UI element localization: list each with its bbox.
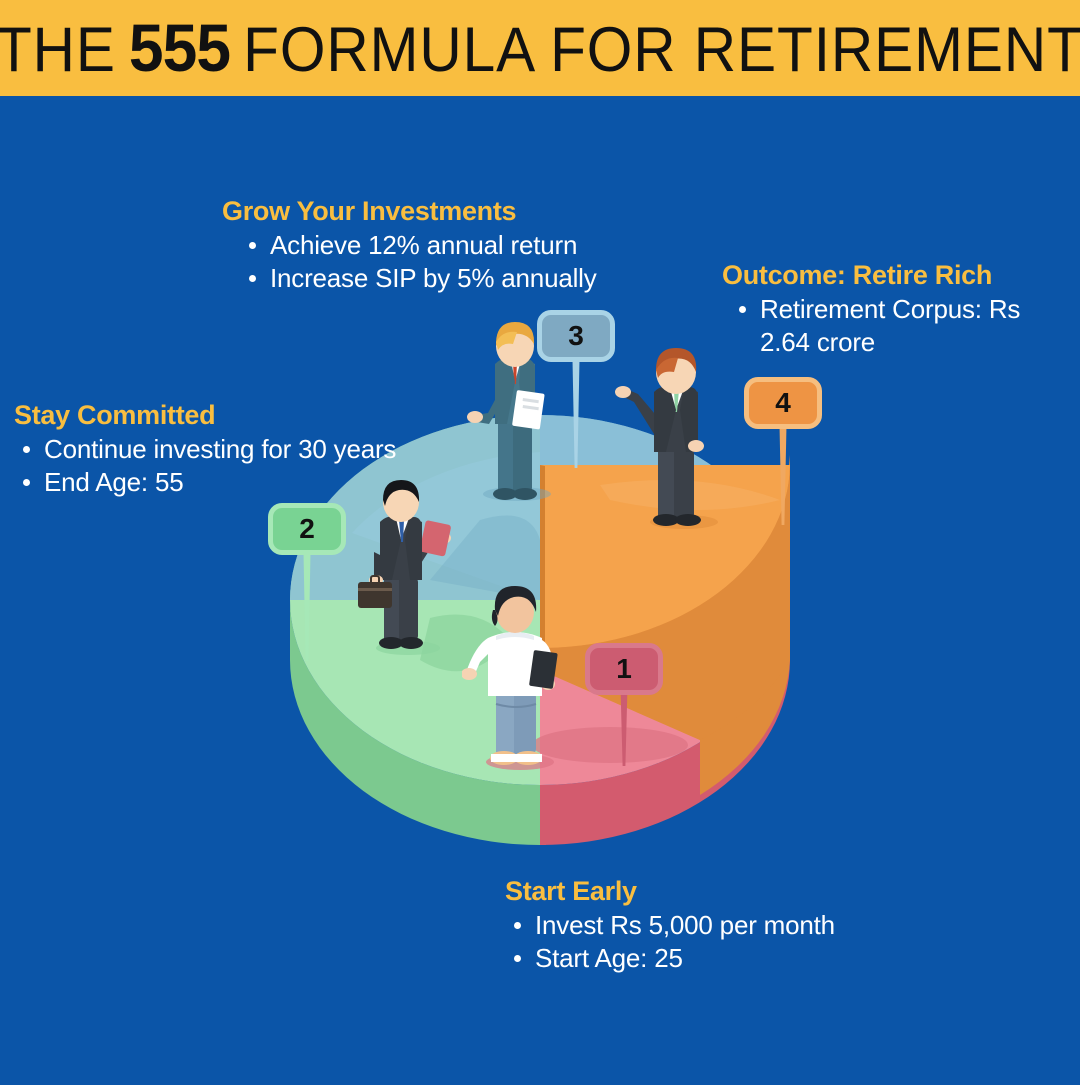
callout-outcome-retire-rich: Outcome: Retire Rich Retirement Corpus: … — [722, 260, 1052, 358]
marker-pin-1[interactable]: 1 — [585, 643, 663, 695]
callout-bullet: Continue investing for 30 years — [14, 433, 504, 466]
callout-heading-stay: Stay Committed — [14, 400, 504, 431]
figure-person-on-orange-slice — [612, 342, 737, 537]
callout-heading-grow: Grow Your Investments — [222, 196, 692, 227]
marker-pin-4[interactable]: 4 — [744, 377, 822, 429]
marker-label-4: 4 — [744, 377, 822, 429]
callout-bullet: Invest Rs 5,000 per month — [505, 909, 925, 942]
marker-label-1: 1 — [585, 643, 663, 695]
marker-label-2: 2 — [268, 503, 346, 555]
callout-list-outcome: Retirement Corpus: Rs 2.64 crore — [722, 293, 1052, 358]
callout-start-early: Start Early Invest Rs 5,000 per month St… — [505, 876, 925, 974]
callout-bullet: End Age: 55 — [14, 466, 504, 499]
figure-person-on-green-slice — [352, 476, 472, 661]
callout-grow-your-investments: Grow Your Investments Achieve 12% annual… — [222, 196, 692, 294]
callout-bullet: Start Age: 25 — [505, 942, 925, 975]
infographic-canvas: THE 555 FORMULA FOR RETIREMENT — [0, 0, 1080, 1080]
callout-list-stay: Continue investing for 30 years End Age:… — [14, 433, 504, 498]
marker-label-3: 3 — [537, 310, 615, 362]
figure-person-on-pink-slice — [462, 582, 582, 777]
callout-bullet: Retirement Corpus: Rs 2.64 crore — [730, 293, 1052, 358]
callout-heading-outcome: Outcome: Retire Rich — [722, 260, 1052, 291]
callout-stay-committed: Stay Committed Continue investing for 30… — [14, 400, 504, 498]
callout-bullet: Increase SIP by 5% annually — [240, 262, 692, 295]
marker-pin-2[interactable]: 2 — [268, 503, 346, 555]
marker-pin-3[interactable]: 3 — [537, 310, 615, 362]
callout-heading-start: Start Early — [505, 876, 925, 907]
callout-bullet: Achieve 12% annual return — [240, 229, 692, 262]
callout-list-grow: Achieve 12% annual return Increase SIP b… — [222, 229, 692, 294]
callout-list-start: Invest Rs 5,000 per month Start Age: 25 — [505, 909, 925, 974]
